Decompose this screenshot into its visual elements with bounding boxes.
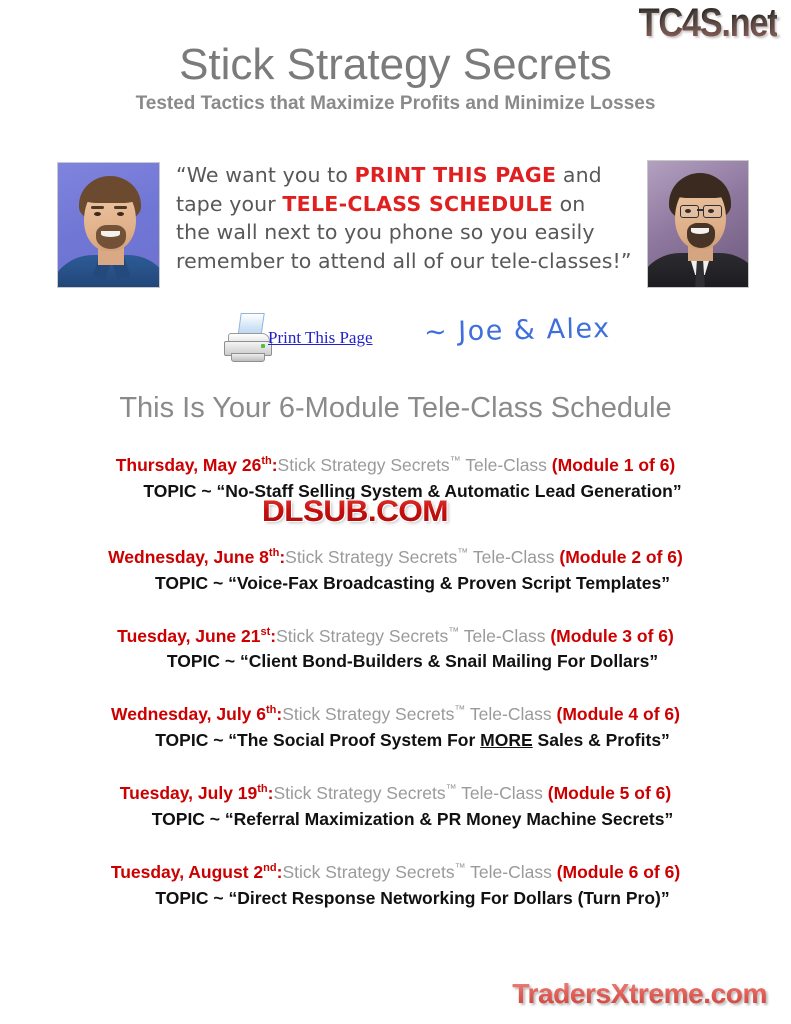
trademark-symbol: ™: [454, 704, 465, 716]
topic-prefix: TOPIC ~: [167, 651, 240, 671]
module-class-name: Stick Strategy Secrets: [276, 625, 448, 645]
topic-prefix: TOPIC ~: [155, 888, 228, 908]
module-headline: Wednesday, June 8th:Stick Strategy Secre…: [0, 542, 791, 569]
module-date: Wednesday, July 6: [111, 704, 266, 724]
module-number-label: (Module 4 of 6): [557, 704, 680, 724]
module-headline: Thursday, May 26th:Stick Strategy Secret…: [0, 450, 791, 477]
photo-goatee: [687, 223, 715, 248]
topic-prefix: TOPIC ~: [143, 481, 216, 501]
module-class-suffix: Tele-Class: [457, 783, 548, 803]
printer-led-part: [261, 344, 265, 348]
module-number-label: (Module 3 of 6): [550, 625, 673, 645]
quote-highlight-schedule: TELE-CLASS SCHEDULE: [282, 192, 553, 216]
trademark-symbol: ™: [446, 783, 457, 795]
trademark-symbol: ™: [450, 455, 461, 467]
module-class-suffix: Tele-Class: [459, 625, 550, 645]
module-headline: Tuesday, July 19th:Stick Strategy Secret…: [0, 778, 791, 805]
module-topic: TOPIC ~ “Direct Response Networking For …: [0, 886, 791, 910]
module-date: Wednesday, June 8: [108, 547, 269, 567]
photo-brow-left: [91, 206, 104, 209]
photo-eye-right: [708, 209, 714, 213]
topic-text-post: Sales & Profits”: [533, 730, 670, 750]
module-class-name: Stick Strategy Secrets: [282, 704, 454, 724]
module-date-ordinal: th: [261, 455, 271, 467]
module-date-ordinal: th: [266, 704, 276, 716]
topic-text: “Client Bond-Builders & Snail Mailing Fo…: [240, 651, 658, 671]
photo-eye-right: [117, 212, 124, 216]
topic-text: “Referral Maximization & PR Money Machin…: [225, 809, 673, 829]
photo-mouth: [691, 228, 709, 234]
schedule-heading: This Is Your 6-Module Tele-Class Schedul…: [0, 392, 791, 425]
module-date-ordinal: st: [260, 626, 270, 638]
topic-text: “Voice-Fax Broadcasting & Proven Script …: [228, 573, 670, 593]
schedule-module-6: Tuesday, August 2nd:Stick Strategy Secre…: [0, 857, 791, 910]
module-date: Thursday, May 26: [116, 455, 262, 475]
print-this-page-link[interactable]: Print This Page: [268, 328, 373, 348]
topic-underlined-word: MORE: [480, 730, 533, 750]
quote-line-3: the wall next to you phone so you easily: [176, 218, 641, 247]
quote-line-4: remember to attend all of our tele-class…: [176, 247, 641, 276]
module-date: Tuesday, August 2: [111, 862, 263, 882]
module-class-name: Stick Strategy Secrets: [278, 455, 450, 475]
quote-highlight-print: PRINT THIS PAGE: [355, 163, 557, 187]
module-date-ordinal: th: [257, 783, 267, 795]
topic-text: “Direct Response Networking For Dollars …: [228, 888, 669, 908]
module-class-name: Stick Strategy Secrets: [285, 547, 457, 567]
module-number-label: (Module 6 of 6): [557, 862, 680, 882]
quote-line-1-post: and: [556, 163, 601, 187]
module-class-name: Stick Strategy Secrets: [273, 783, 445, 803]
schedule-module-3: Tuesday, June 21st:Stick Strategy Secret…: [0, 621, 791, 674]
module-topic: TOPIC ~ “Client Bond-Builders & Snail Ma…: [0, 649, 791, 673]
topic-prefix: TOPIC ~: [155, 573, 228, 593]
module-date: Tuesday, July 19: [120, 783, 257, 803]
quote-line-2: tape your TELE-CLASS SCHEDULE on: [176, 190, 641, 219]
quote-band: “We want you to PRINT THIS PAGE and tape…: [0, 155, 791, 300]
dlsub-watermark: DLSUB.COM: [262, 495, 448, 529]
photo-eye-left: [685, 209, 691, 213]
avatar-photo-left: [57, 162, 160, 288]
signature-joe-and-alex: ~ Joe & Alex: [424, 313, 611, 348]
module-headline: Tuesday, August 2nd:Stick Strategy Secre…: [0, 857, 791, 884]
module-topic: TOPIC ~ “The Social Proof System For MOR…: [0, 728, 791, 752]
photo-eye-left: [94, 212, 101, 216]
module-headline: Wednesday, July 6th:Stick Strategy Secre…: [0, 699, 791, 726]
trademark-symbol: ™: [455, 862, 466, 874]
avatar-photo-right: [647, 160, 749, 288]
photo-goatee: [96, 225, 126, 249]
module-number-label: (Module 2 of 6): [559, 547, 682, 567]
schedule-module-5: Tuesday, July 19th:Stick Strategy Secret…: [0, 778, 791, 831]
topic-text: “The Social Proof System For: [228, 730, 480, 750]
module-class-suffix: Tele-Class: [465, 704, 556, 724]
promo-quote: “We want you to PRINT THIS PAGE and tape…: [176, 161, 641, 275]
module-class-suffix: Tele-Class: [466, 862, 557, 882]
module-class-name: Stick Strategy Secrets: [282, 862, 454, 882]
module-number-label: (Module 1 of 6): [552, 455, 675, 475]
page-title: Stick Strategy Secrets: [0, 42, 791, 88]
print-row: Print This Page ~ Joe & Alex: [0, 305, 791, 365]
page-subtitle: Tested Tactics that Maximize Profits and…: [0, 93, 791, 115]
schedule-module-4: Wednesday, July 6th:Stick Strategy Secre…: [0, 699, 791, 752]
module-class-suffix: Tele-Class: [468, 547, 559, 567]
photo-glasses-bridge: [697, 209, 703, 211]
topic-prefix: TOPIC ~: [155, 730, 228, 750]
module-topic: TOPIC ~ “Referral Maximization & PR Mone…: [0, 807, 791, 831]
module-date-ordinal: th: [269, 547, 279, 559]
module-date: Tuesday, June 21: [117, 625, 260, 645]
quote-line-2-pre: tape your: [176, 192, 282, 216]
schedule-module-2: Wednesday, June 8th:Stick Strategy Secre…: [0, 542, 791, 595]
photo-brow-right: [114, 206, 127, 209]
module-class-suffix: Tele-Class: [461, 455, 552, 475]
printer-tray-part: [231, 353, 265, 362]
site-logo-tc4s: TC4S.net: [638, 2, 777, 44]
trademark-symbol: ™: [457, 547, 468, 559]
quote-line-1-pre: “We want you to: [176, 163, 355, 187]
footer-logo-tradersxtreme: TradersXtreme.com: [512, 978, 767, 1010]
quote-line-2-post: on: [553, 192, 585, 216]
photo-mouth: [101, 231, 120, 237]
printer-icon[interactable]: [222, 313, 274, 361]
trademark-symbol: ™: [448, 626, 459, 638]
module-topic: TOPIC ~ “Voice-Fax Broadcasting & Proven…: [0, 571, 791, 595]
topic-prefix: TOPIC ~: [152, 809, 225, 829]
quote-line-1: “We want you to PRINT THIS PAGE and: [176, 161, 641, 190]
module-number-label: (Module 5 of 6): [548, 783, 671, 803]
module-date-ordinal: nd: [263, 862, 276, 874]
module-headline: Tuesday, June 21st:Stick Strategy Secret…: [0, 621, 791, 648]
